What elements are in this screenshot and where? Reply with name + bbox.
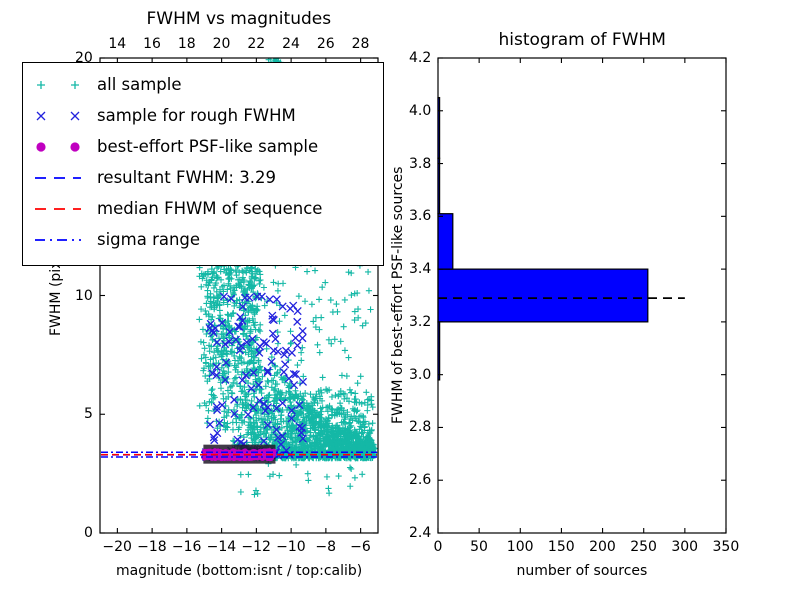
figure-canvas: FWHM vs magnitudes magnitude (bottom:isn… <box>0 0 800 600</box>
left-xtick-top-2: 18 <box>178 36 196 52</box>
legend-item-1: sample for rough FWHM <box>23 101 383 132</box>
left-xtick-bottom-4: −12 <box>241 539 271 555</box>
left-ytick-3: 20 <box>75 50 93 66</box>
legend-label-1: sample for rough FWHM <box>97 108 296 125</box>
left-ytick-2: 10 <box>75 288 93 304</box>
right-ytick-9: 4.2 <box>409 50 431 66</box>
legend-label-4: median FHWM of sequence <box>97 201 322 218</box>
right-ytick-7: 3.8 <box>409 156 431 172</box>
left-xtick-top-3: 20 <box>213 36 231 52</box>
histogram-bar-2 <box>438 214 453 269</box>
histogram-bar-1 <box>438 269 648 322</box>
right-ytick-1: 2.6 <box>409 472 431 488</box>
left-ytick-0: 0 <box>84 525 93 541</box>
left-xtick-top-6: 26 <box>317 36 335 52</box>
left-xtick-top-7: 28 <box>352 36 370 52</box>
right-ytick-8: 4.0 <box>409 103 431 119</box>
legend-item-5: sigma range <box>23 225 383 256</box>
right-ytick-3: 3.0 <box>409 367 431 383</box>
legend-marker-circle-icon <box>23 132 97 163</box>
right-ytick-6: 3.6 <box>409 208 431 224</box>
legend-label-5: sigma range <box>97 232 200 249</box>
right-xtick-1: 50 <box>470 539 488 555</box>
legend-item-0: all sample <box>23 70 383 101</box>
right-ytick-5: 3.4 <box>409 261 431 277</box>
right-xtick-3: 150 <box>548 539 575 555</box>
left-xtick-bottom-0: −20 <box>102 539 132 555</box>
legend-marker-cross-icon <box>23 101 97 132</box>
right-xtick-0: 0 <box>434 539 443 555</box>
right-xtick-2: 100 <box>507 539 534 555</box>
left-xtick-bottom-6: −8 <box>315 539 336 555</box>
right-ytick-2: 2.8 <box>409 419 431 435</box>
left-xtick-bottom-1: −18 <box>137 539 167 555</box>
left-xtick-bottom-3: −14 <box>207 539 237 555</box>
legend: all samplesample for rough FWHMbest-effo… <box>22 62 384 266</box>
legend-item-4: median FHWM of sequence <box>23 194 383 225</box>
legend-marker-dashdot-icon <box>23 225 97 256</box>
right-ytick-4: 3.2 <box>409 314 431 330</box>
left-xtick-top-0: 14 <box>108 36 126 52</box>
right-xtick-6: 300 <box>671 539 698 555</box>
legend-label-2: best-effort PSF-like sample <box>97 139 318 156</box>
legend-marker-plus-icon <box>23 70 97 101</box>
legend-item-2: best-effort PSF-like sample <box>23 132 383 163</box>
left-xtick-top-4: 22 <box>247 36 265 52</box>
left-xtick-bottom-7: −6 <box>350 539 371 555</box>
left-xtick-top-1: 16 <box>143 36 161 52</box>
right-xtick-7: 350 <box>713 539 740 555</box>
left-xtick-bottom-2: −16 <box>172 539 202 555</box>
legend-item-3: resultant FWHM: 3.29 <box>23 163 383 194</box>
left-ytick-1: 5 <box>84 406 93 422</box>
legend-label-3: resultant FWHM: 3.29 <box>97 170 276 187</box>
left-xtick-top-5: 24 <box>282 36 300 52</box>
right-xtick-4: 200 <box>589 539 616 555</box>
legend-label-0: all sample <box>97 77 182 94</box>
left-xtick-bottom-5: −10 <box>276 539 306 555</box>
legend-marker-dashed-icon <box>23 163 97 194</box>
legend-marker-dashed-icon <box>23 194 97 225</box>
right-xtick-5: 250 <box>630 539 657 555</box>
right-ytick-0: 2.4 <box>409 525 431 541</box>
